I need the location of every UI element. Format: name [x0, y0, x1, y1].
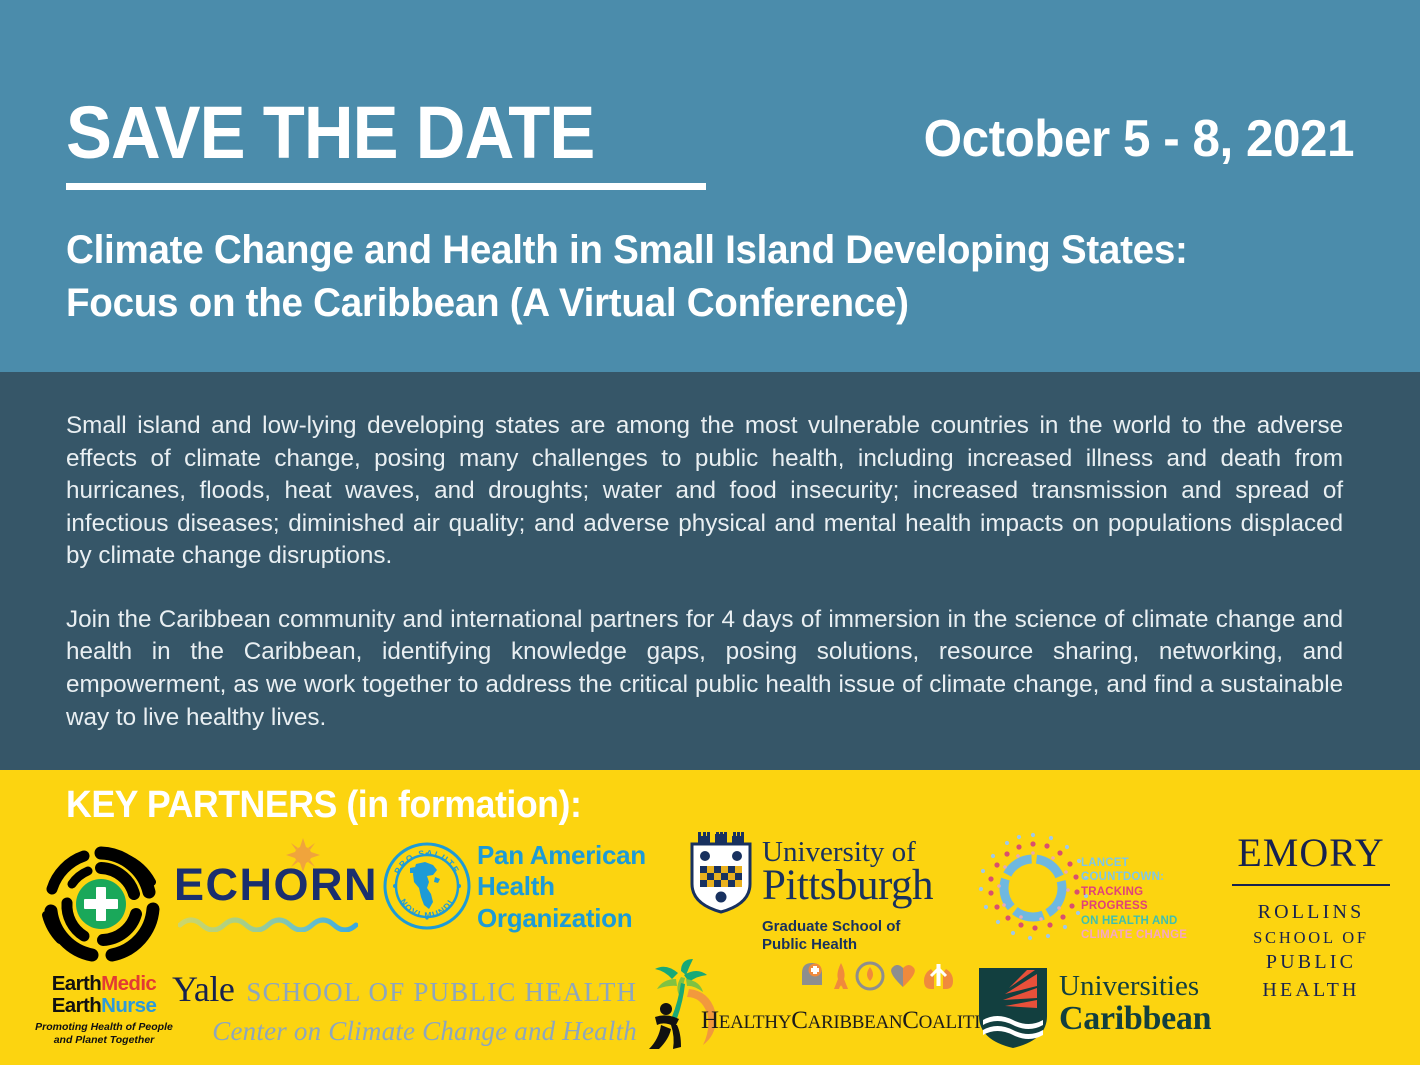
hcc-c1: C [791, 1007, 807, 1034]
body-copy: Small island and low-lying developing st… [66, 410, 1343, 798]
universities-caribbean-line2: Caribbean [1059, 1002, 1211, 1036]
hcc-aribbean: ARIBBEAN [808, 1012, 903, 1033]
heart-icon [891, 965, 915, 987]
emory-sub-public: PUBLIC [1232, 949, 1390, 977]
poster-body: Small island and low-lying developing st… [0, 372, 1420, 770]
logo-emory-rollins: EMORY ROLLINS SCHOOL OF PUBLIC HEALTH [1232, 833, 1390, 1013]
earthmedic-line1-black: Earth [52, 972, 101, 995]
logo-university-of-pittsburgh: University of Pittsburgh Graduate School… [688, 832, 948, 948]
conference-title-line1: Climate Change and Health in Small Islan… [66, 228, 1188, 272]
emory-subtitle: ROLLINS SCHOOL OF PUBLIC HEALTH [1232, 899, 1390, 1005]
lancet-line1: LANCET COUNTDOWN: [1081, 856, 1195, 885]
logo-pan-american-health-organization: PRO SALUTE NOVI MUNDI Pan American Healt… [383, 840, 655, 936]
body-paragraph-2: Join the Caribbean community and interna… [66, 604, 1343, 734]
pitt-sub-line1: Graduate School of [762, 918, 900, 936]
save-the-date-poster: SAVE THE DATE October 5 - 8, 2021 Climat… [0, 0, 1420, 1065]
yale-school-text: SCHOOL OF PUBLIC HEALTH [246, 977, 637, 1007]
lancet-countdown-wordmark: LANCET COUNTDOWN: TRACKING PROGRESS ON H… [1081, 856, 1195, 943]
universities-caribbean-line1: Universities [1059, 972, 1199, 1001]
logo-echorn: ECHORN [174, 838, 360, 934]
body-paragraph-1: Small island and low-lying developing st… [66, 410, 1343, 573]
earthmedic-line2-black: Earth [52, 994, 101, 1017]
emory-sub-health: HEALTH [1232, 977, 1390, 1005]
conference-title: Climate Change and Health in Small Islan… [66, 224, 1321, 330]
earthmedic-tagline-line1: Promoting Health of People [28, 1021, 180, 1033]
emory-divider [1232, 884, 1390, 886]
pitt-shield-icon [688, 832, 754, 914]
echorn-wordmark: ECHORN [174, 862, 360, 907]
hcc-ealthy: EALTHY [719, 1012, 791, 1033]
save-the-date-underline [66, 183, 706, 190]
paho-seal-icon: PRO SALUTE NOVI MUNDI [383, 842, 471, 930]
emory-sub-school-of: SCHOOL OF [1232, 927, 1390, 950]
pitt-line2: Pittsburgh [762, 864, 933, 907]
awareness-ribbon-icon [834, 963, 848, 989]
logo-lancet-countdown: LANCET COUNTDOWN: TRACKING PROGRESS ON H… [973, 832, 1195, 944]
universities-caribbean-shield-icon [975, 964, 1051, 1050]
earthmedic-tagline-line2: and Planet Together [28, 1034, 180, 1046]
hcc-health-icons [800, 959, 955, 995]
head-plus-icon [802, 963, 822, 985]
yale-center-text: Center on Climate Change and Health [172, 1016, 637, 1047]
lancet-line2: TRACKING PROGRESS [1081, 885, 1195, 914]
pitt-subtitle: Graduate School of Public Health [762, 918, 900, 955]
hcc-wordmark: HEALTHYCARIBBEANCOALITION [701, 1007, 1007, 1035]
logo-healthy-caribbean-coalition: HEALTHYCARIBBEANCOALITION [645, 955, 970, 1060]
logo-universities-caribbean: Universities Caribbean [975, 960, 1215, 1055]
yale-wordmark: Yale [172, 969, 234, 1009]
paho-wordmark: Pan American Health Organization [477, 840, 646, 934]
emory-sub-rollins: ROLLINS [1232, 899, 1390, 927]
earthmedic-tagline: Promoting Health of People and Planet To… [28, 1021, 180, 1046]
hcc-c2: C [902, 1007, 918, 1034]
save-the-date-heading: SAVE THE DATE [66, 96, 594, 170]
blood-drop-icon [857, 963, 883, 989]
logo-earthmedic-earthnurse: EarthMedic EarthNurse Promoting Health o… [28, 837, 180, 1062]
lancet-line3: ON HEALTH AND [1081, 914, 1195, 928]
logo-yale-school-of-public-health: YaleSCHOOL OF PUBLIC HEALTH Center on Cl… [172, 968, 637, 1042]
lancet-line4: CLIMATE CHANGE [1081, 928, 1195, 942]
conference-title-line2: Focus on the Caribbean (A Virtual Confer… [66, 277, 1321, 330]
hcc-palm-figure-icon [645, 959, 723, 1051]
earthmedic-wordmark: EarthMedic EarthNurse Promoting Health o… [28, 973, 180, 1046]
yale-primary-row: YaleSCHOOL OF PUBLIC HEALTH [172, 968, 637, 1010]
poster-header: SAVE THE DATE October 5 - 8, 2021 Climat… [0, 0, 1420, 372]
earthmedic-line2-accent: Nurse [101, 994, 156, 1017]
event-date: October 5 - 8, 2021 [924, 113, 1354, 165]
paho-line2: Health [477, 871, 646, 902]
emory-title: EMORY [1232, 833, 1390, 873]
wave-icon [178, 914, 358, 932]
hcc-h: H [701, 1007, 719, 1034]
paho-line3: Organization [477, 903, 646, 934]
key-partners-title: KEY PARTNERS (in formation): [66, 786, 581, 824]
earthmedic-swirl-icon [34, 837, 169, 972]
earthmedic-line1-accent: Medic [101, 972, 156, 995]
pitt-sub-line2: Public Health [762, 936, 900, 954]
lancet-countdown-rings-icon [973, 832, 1093, 944]
lungs-icon [924, 964, 953, 989]
paho-line1: Pan American [477, 840, 646, 871]
